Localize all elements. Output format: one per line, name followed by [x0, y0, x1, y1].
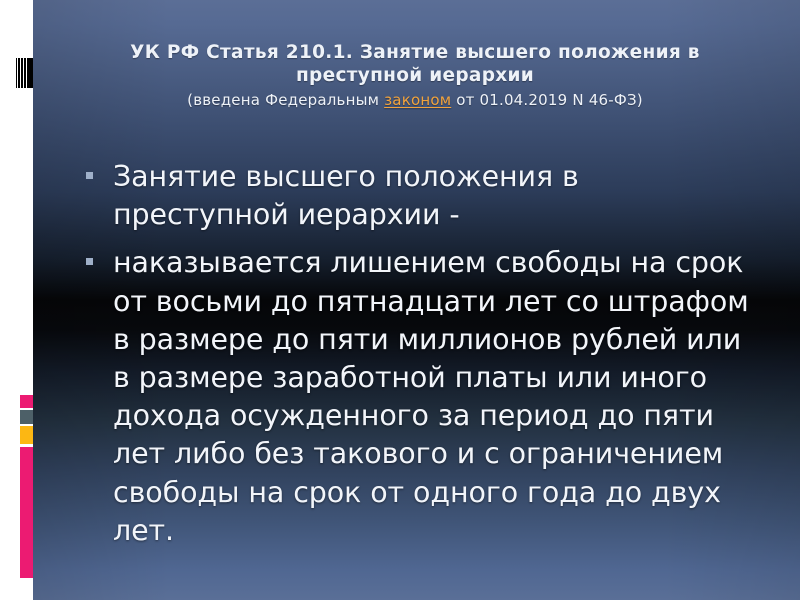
- barcode-bar: [18, 58, 20, 88]
- barcode-bar: [16, 58, 17, 88]
- slide-subtitle-suffix: от 01.04.2019 N 46-ФЗ): [451, 91, 643, 109]
- slide-body: Занятие высшего положения в преступной и…: [86, 158, 756, 560]
- slide-subtitle-prefix: (введена Федеральным: [187, 91, 384, 109]
- barcode-icon: [16, 58, 33, 88]
- accent-chip-teal: [20, 410, 33, 424]
- slide-title-block: УК РФ Статья 210.1. Занятие высшего поло…: [110, 42, 720, 110]
- barcode-bar: [21, 58, 23, 88]
- square-bullet-icon: [86, 258, 93, 265]
- presentation-slide: УК РФ Статья 210.1. Занятие высшего поло…: [0, 0, 800, 600]
- slide-title-line-2: преступной иерархии: [296, 65, 534, 86]
- list-item: наказывается лишением свободы на срок от…: [86, 244, 756, 550]
- accent-chip-yellow: [20, 426, 33, 444]
- list-item-text: наказывается лишением свободы на срок от…: [113, 244, 756, 550]
- list-item-text: Занятие высшего положения в преступной и…: [113, 158, 756, 234]
- slide-title: УК РФ Статья 210.1. Занятие высшего поло…: [110, 42, 720, 87]
- barcode-bar: [27, 58, 33, 88]
- list-item: Занятие высшего положения в преступной и…: [86, 158, 756, 234]
- barcode-bar: [24, 58, 26, 88]
- accent-chip-pink: [20, 395, 33, 408]
- slide-subtitle: (введена Федеральным законом от 01.04.20…: [110, 91, 720, 110]
- square-bullet-icon: [86, 172, 93, 179]
- accent-bar-pink: [20, 447, 33, 578]
- federal-law-link[interactable]: законом: [384, 91, 451, 109]
- slide-title-line-1: УК РФ Статья 210.1. Занятие высшего поло…: [130, 42, 700, 63]
